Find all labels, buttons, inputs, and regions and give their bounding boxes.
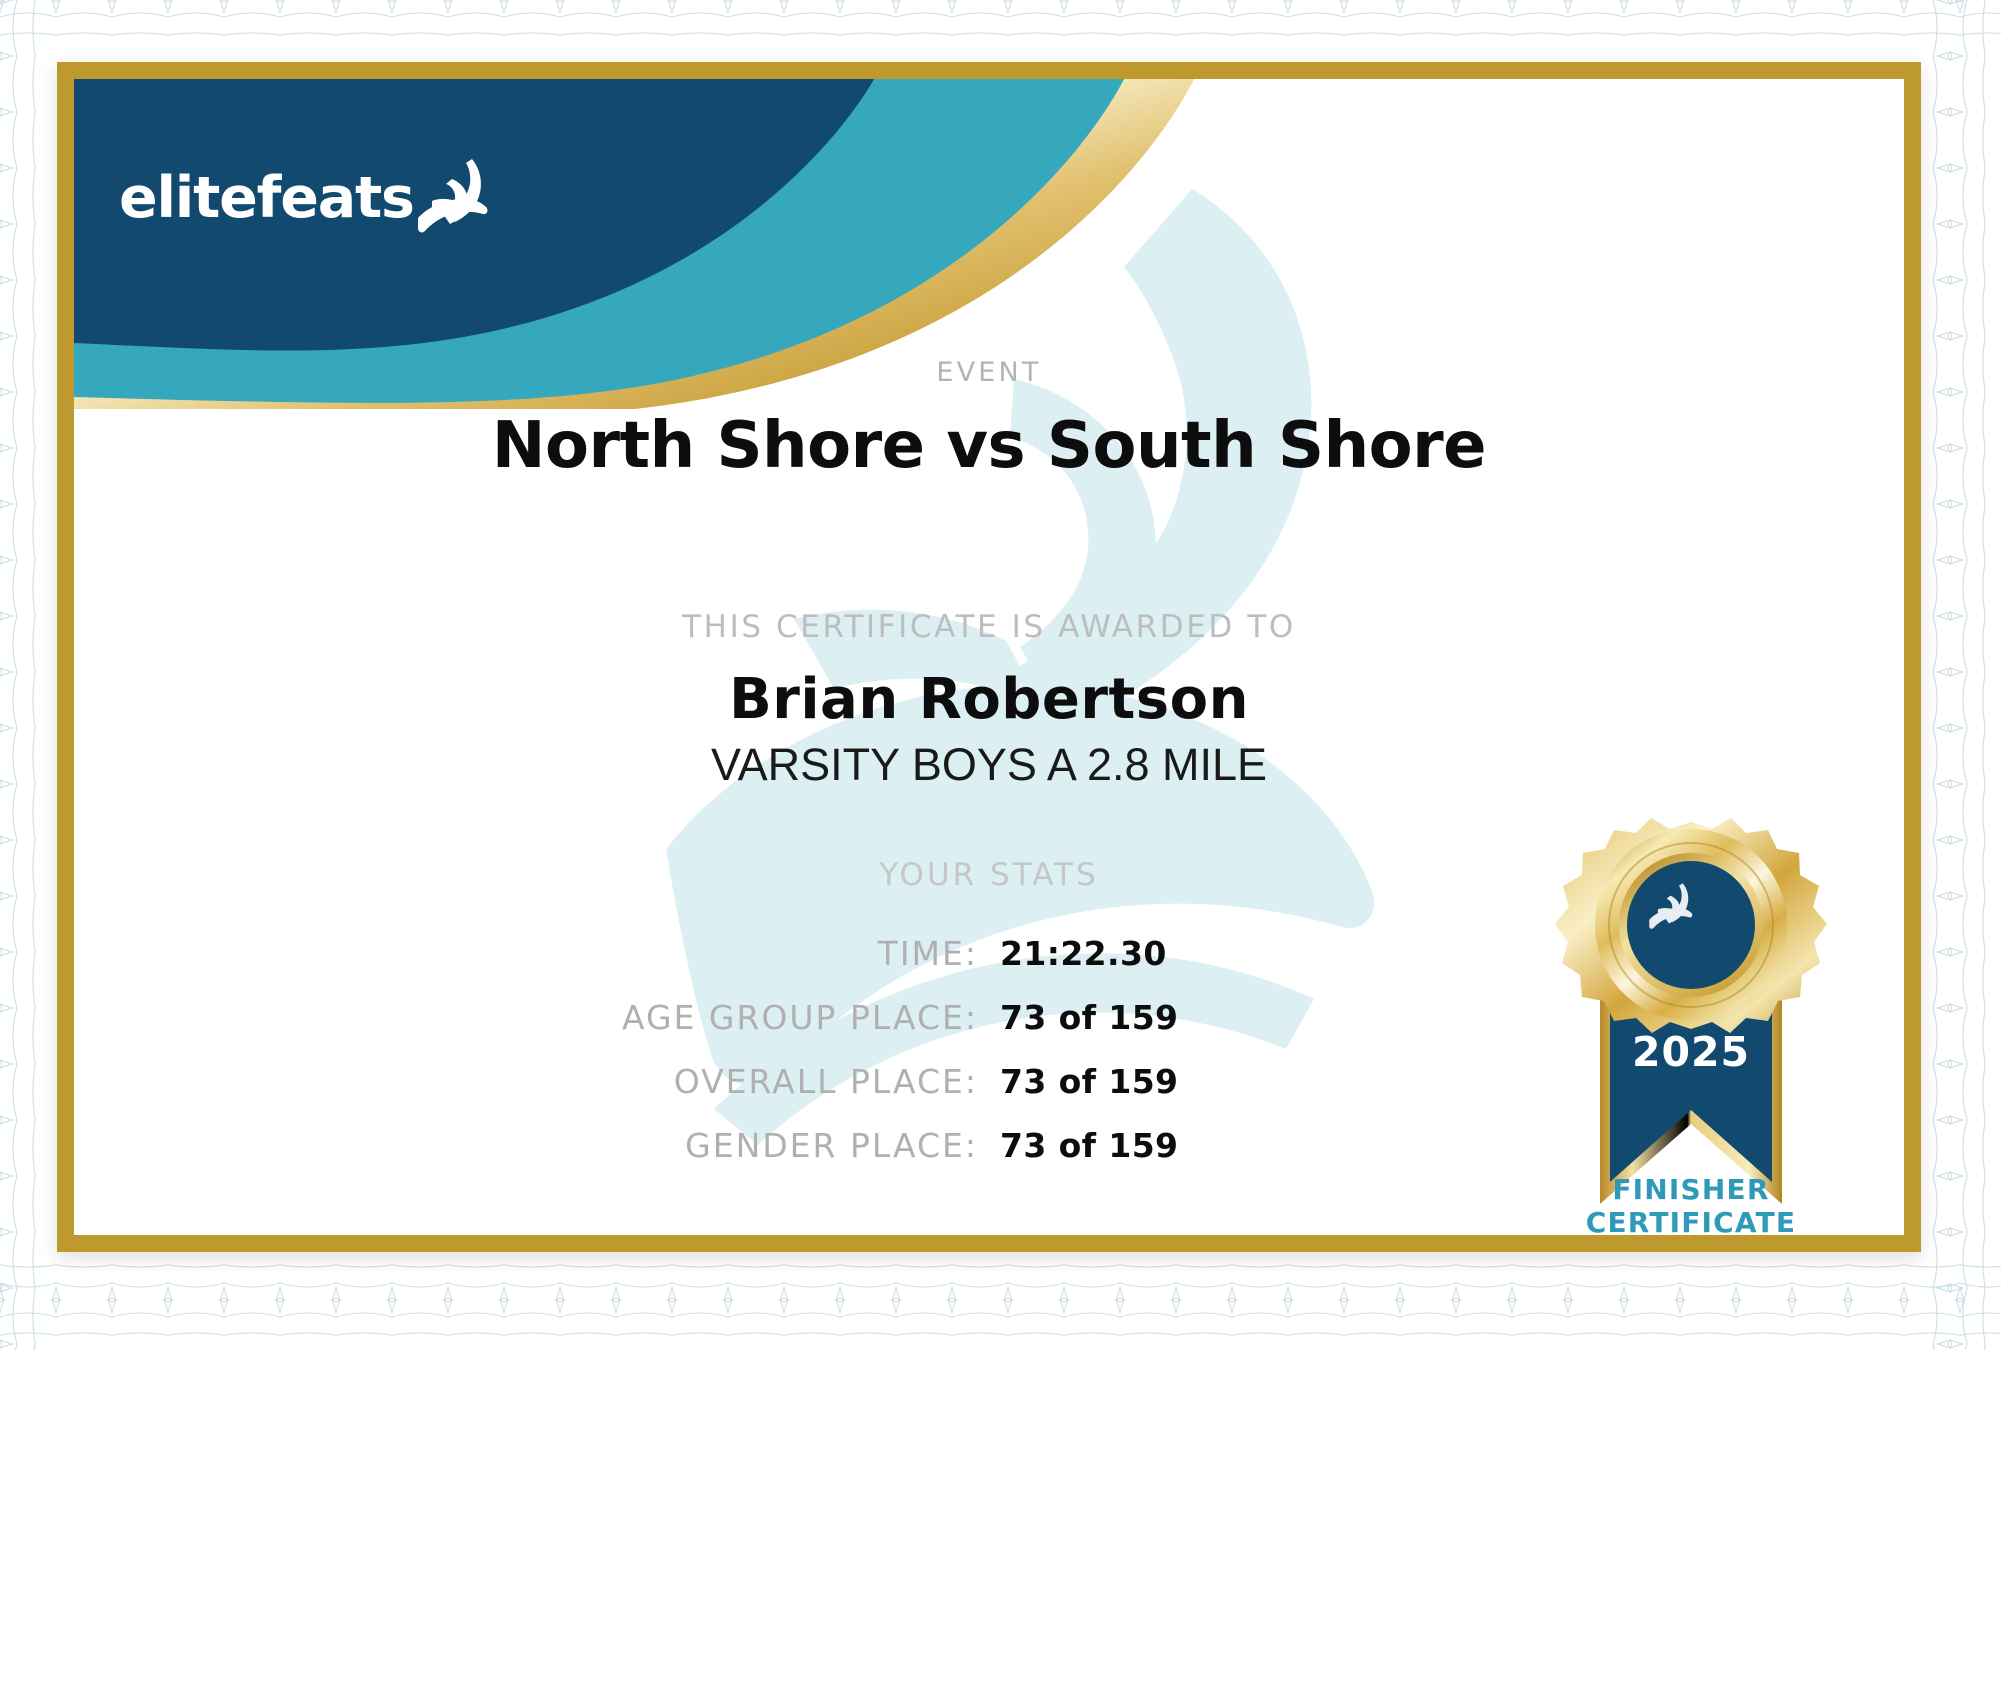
finisher-medal-seal: 2025 bbox=[1526, 804, 1856, 1235]
awarded-to-label: THIS CERTIFICATE IS AWARDED TO bbox=[74, 609, 1904, 645]
seal-year: 2025 bbox=[1632, 1028, 1750, 1076]
certificate-content: EVENT North Shore vs South Shore THIS CE… bbox=[74, 79, 1904, 1235]
recipient-division: VARSITY BOYS A 2.8 MILE bbox=[74, 739, 1904, 791]
recipient-name: Brian Robertson bbox=[74, 667, 1904, 732]
event-label: EVENT bbox=[74, 357, 1904, 388]
seal-caption-line1: FINISHER bbox=[1516, 1174, 1866, 1207]
seal-caption-line2: CERTIFICATE bbox=[1516, 1207, 1866, 1235]
seal-medal bbox=[1555, 818, 1827, 1033]
certificate-frame: elitefeats EVENT North Shore vs South Sh… bbox=[57, 62, 1921, 1252]
stat-label: AGE GROUP PLACE: bbox=[258, 998, 978, 1037]
stat-label: GENDER PLACE: bbox=[258, 1126, 978, 1165]
stat-label: OVERALL PLACE: bbox=[258, 1062, 978, 1101]
event-title: North Shore vs South Shore bbox=[74, 409, 1904, 483]
stat-label: TIME: bbox=[258, 934, 978, 973]
certificate-page: elitefeats EVENT North Shore vs South Sh… bbox=[0, 0, 2001, 1700]
seal-caption: FINISHER CERTIFICATE bbox=[1516, 1174, 1866, 1235]
